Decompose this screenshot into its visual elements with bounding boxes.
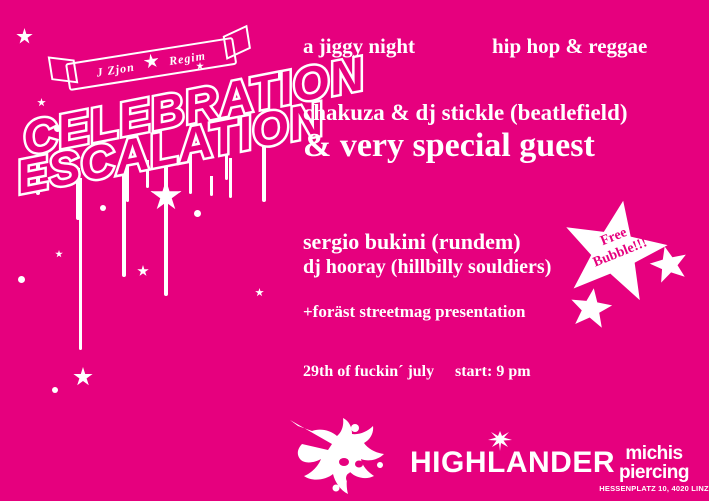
michis-wordmark-line-1: michis	[598, 444, 709, 463]
michis-address-label: HESSENPLATZ 10, 4020 LINZ	[598, 484, 709, 493]
dot-icon	[18, 276, 25, 283]
celebration-escalation-logo: J Zjon Regim CELEBRATION ESCALATION	[14, 36, 284, 186]
dot-icon	[194, 210, 201, 217]
cannabis-leaf-icon	[487, 431, 513, 451]
paint-drip	[79, 178, 82, 350]
michis-piercing-sponsor-logo: michis piercing HESSENPLATZ 10, 4020 LIN…	[598, 444, 709, 493]
dot-icon	[100, 205, 106, 211]
free-bubble-badge: Free Bubble!!!	[554, 198, 704, 338]
tagline-jiggy-night: a jiggy night	[303, 34, 415, 59]
event-start-time-label: start: 9 pm	[455, 363, 531, 381]
event-date-label: 29th of fuckin´ july	[303, 363, 434, 381]
star-icon-small-bottom	[567, 285, 614, 330]
tagline-hiphop-reggae: hip hop & reggae	[492, 34, 647, 59]
sponsor-row: HIGHLANDER michis piercing HESSENPLATZ 1…	[0, 412, 709, 501]
michis-wordmark-line-2: piercing	[598, 463, 709, 482]
star-icon	[73, 367, 93, 387]
dj-sergio-bukini-label: sergio bukini (rundem)	[303, 229, 521, 255]
dj-hooray-label: dj hooray (hillbilly souldiers)	[303, 256, 551, 279]
splatter-creature-logo	[288, 418, 392, 498]
headliner-label: chakuza & dj stickle (beatlefield)	[303, 100, 628, 126]
special-guest-label: & very special guest	[303, 127, 595, 165]
star-icon	[55, 250, 63, 258]
star-icon	[255, 288, 264, 297]
highlander-sponsor-logo: HIGHLANDER	[410, 448, 580, 478]
star-icon	[143, 53, 160, 70]
highlander-wordmark: HIGHLANDER	[410, 448, 580, 478]
dot-icon	[52, 387, 58, 393]
star-icon	[137, 265, 149, 277]
presenter-label: +foräst streetmag presentation	[303, 302, 525, 322]
event-poster: J Zjon Regim CELEBRATION ESCALATION a ji…	[0, 0, 709, 501]
